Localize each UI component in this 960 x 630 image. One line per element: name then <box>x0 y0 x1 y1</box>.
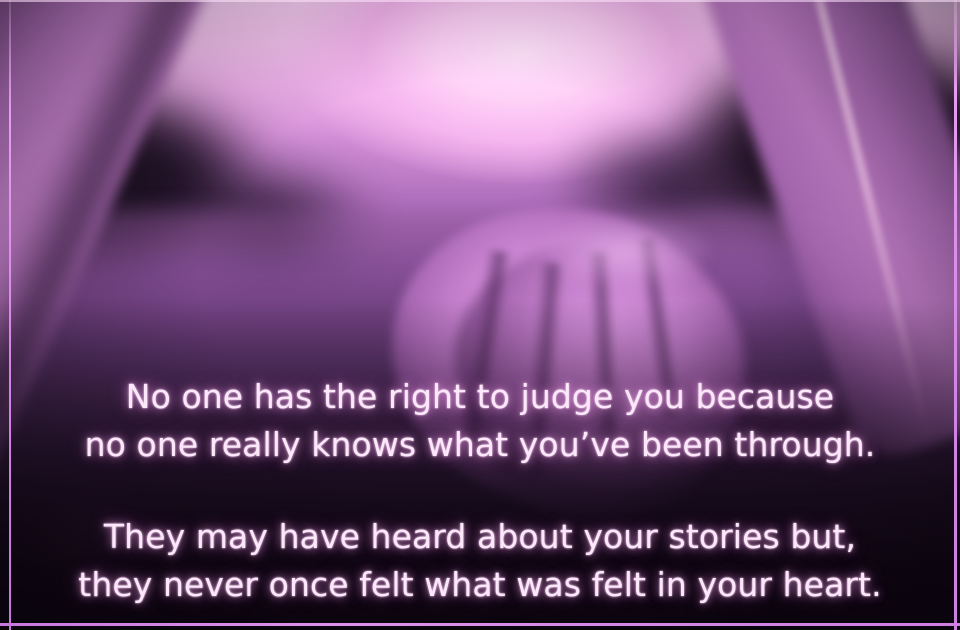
quote-stanza-1: No one has the right to judge you becaus… <box>0 373 960 469</box>
quote-stanza-2: They may have heard about your stories b… <box>0 513 960 609</box>
quote-line-4: they never once felt what was felt in yo… <box>0 561 960 609</box>
quote-line-1: No one has the right to judge you becaus… <box>0 373 960 421</box>
stanza-spacer <box>0 469 960 513</box>
quote-line-2: no one really knows what you’ve been thr… <box>0 421 960 469</box>
quote-line-3: They may have heard about your stories b… <box>0 513 960 561</box>
quote-text: No one has the right to judge you becaus… <box>0 373 960 609</box>
knuckle-highlight <box>540 216 710 286</box>
quote-poster: No one has the right to judge you becaus… <box>0 0 960 630</box>
